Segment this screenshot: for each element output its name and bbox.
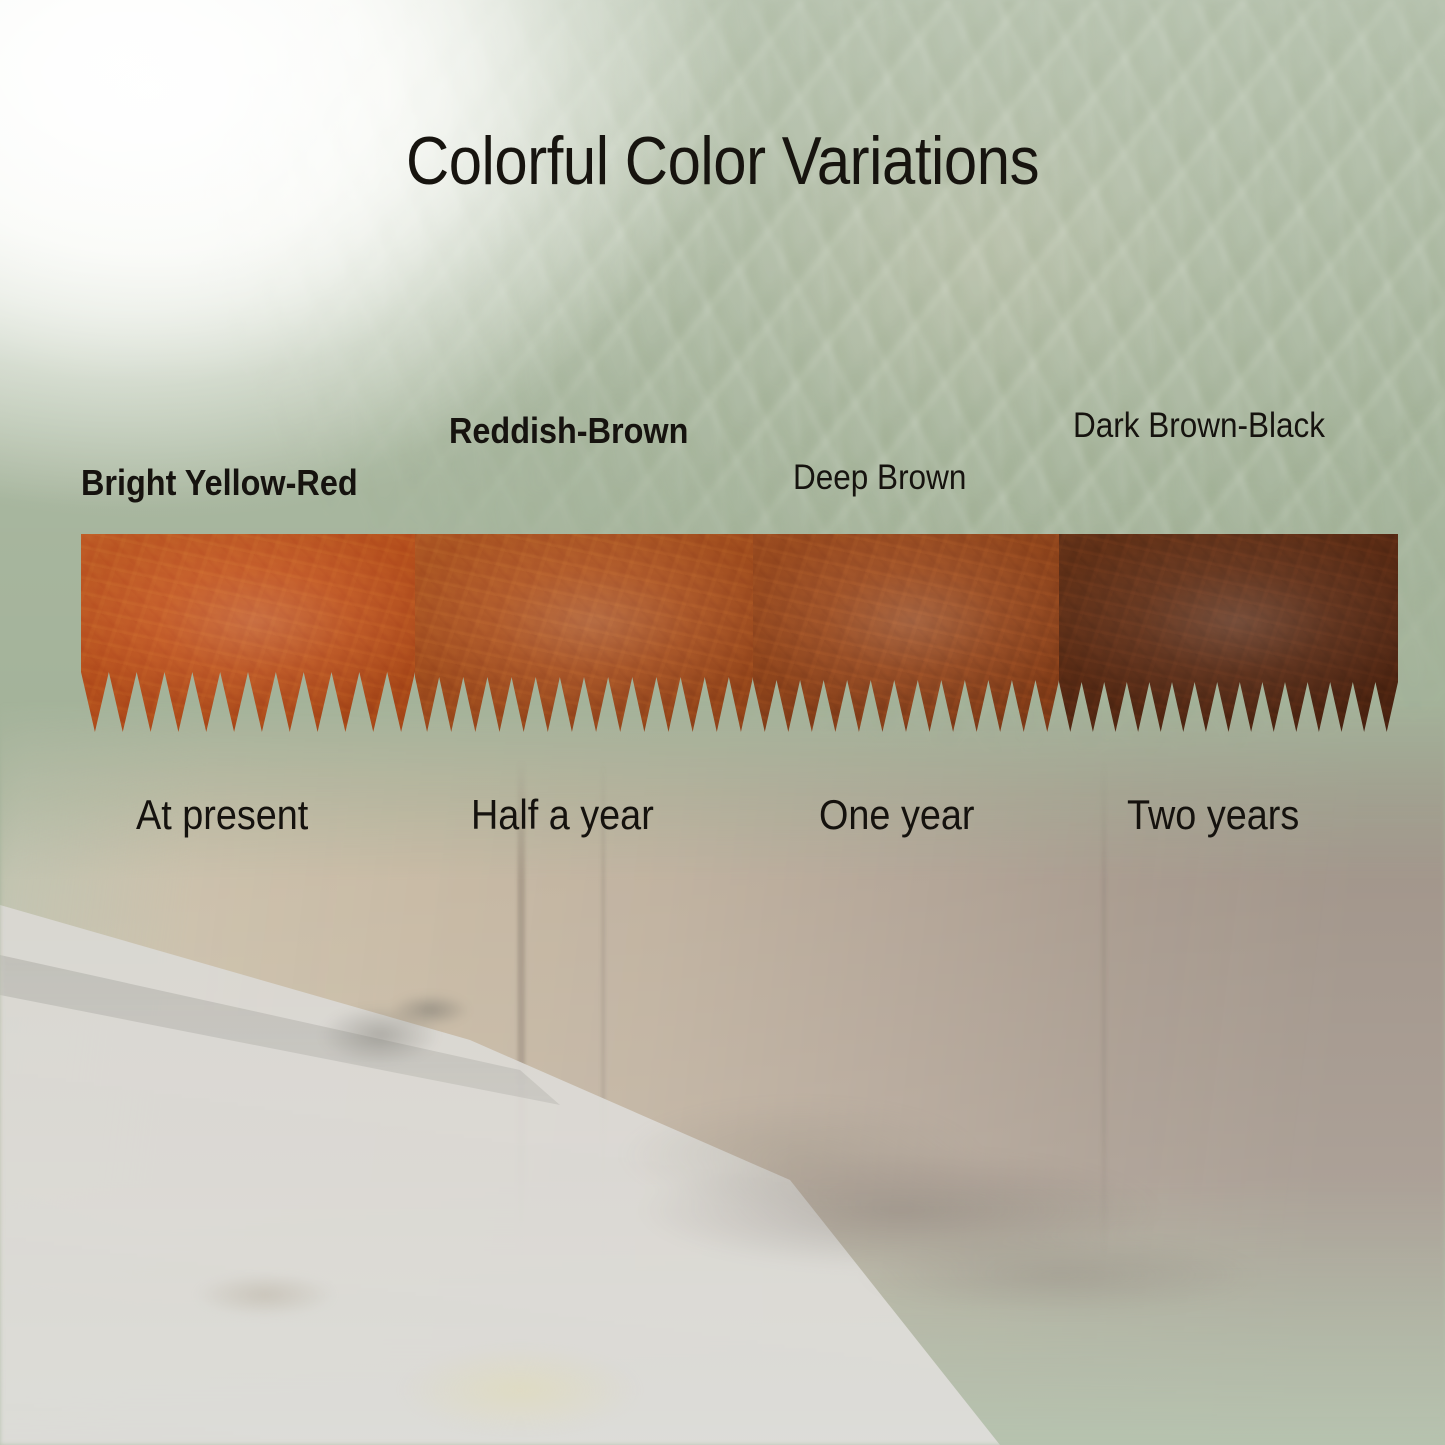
color-swatch-4 bbox=[1059, 534, 1398, 732]
color-swatch-strip bbox=[81, 534, 1398, 732]
swatch-patina-fill bbox=[81, 534, 415, 732]
swatch-time-label-1: At present bbox=[136, 791, 308, 839]
slide-content: Colorful Color Variations Bright Yellow-… bbox=[0, 0, 1445, 1445]
color-swatch-2 bbox=[415, 534, 753, 732]
swatch-color-label-4: Dark Brown-Black bbox=[1073, 406, 1325, 446]
swatch-color-label-1: Bright Yellow-Red bbox=[81, 462, 358, 504]
swatch-patina-fill bbox=[415, 534, 753, 732]
swatch-color-label-2: Reddish-Brown bbox=[449, 410, 688, 452]
page-title: Colorful Color Variations bbox=[87, 122, 1359, 200]
swatch-sheen bbox=[1059, 534, 1398, 732]
swatch-sheen bbox=[753, 534, 1059, 732]
swatch-time-label-3: One year bbox=[819, 791, 974, 839]
swatch-time-label-4: Two years bbox=[1127, 791, 1299, 839]
slide-canvas: Colorful Color Variations Bright Yellow-… bbox=[0, 0, 1445, 1445]
swatch-patina-fill bbox=[1059, 534, 1398, 732]
swatch-sheen bbox=[81, 534, 415, 732]
color-swatch-1 bbox=[81, 534, 415, 732]
swatch-patina-fill bbox=[753, 534, 1059, 732]
swatch-time-label-2: Half a year bbox=[471, 791, 654, 839]
swatch-sheen bbox=[415, 534, 753, 732]
swatch-color-label-3: Deep Brown bbox=[793, 458, 966, 498]
color-swatch-3 bbox=[753, 534, 1059, 732]
